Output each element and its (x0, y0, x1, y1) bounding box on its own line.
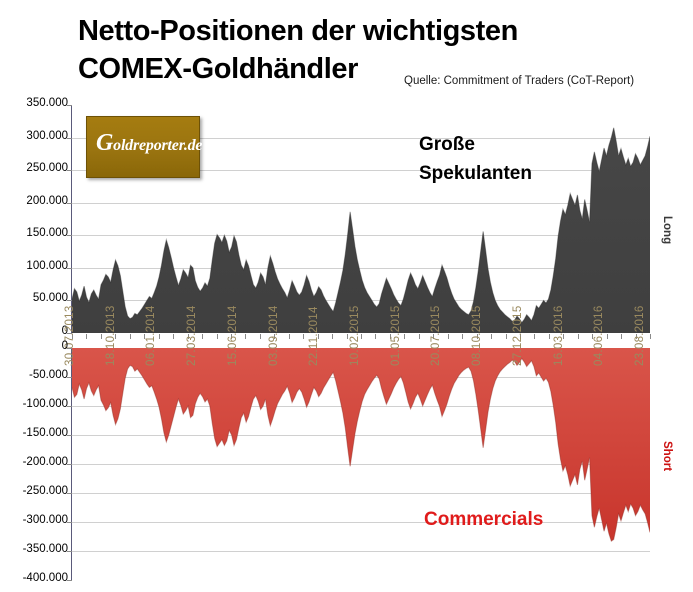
annotation-commercials: Commercials (424, 509, 543, 531)
x-axis-tick-mark (462, 334, 463, 339)
y-axis-tick-mark (67, 551, 72, 552)
y-axis-tick-label: 0 (0, 325, 68, 337)
x-axis-tick-mark (650, 334, 651, 339)
x-axis-date-label: 27.03.2014 (186, 305, 198, 366)
x-axis-tick-mark (506, 334, 507, 339)
y-axis-tick-label: -150.000 (0, 427, 68, 439)
x-axis-date-label: 22.11.2014 (308, 306, 320, 366)
x-axis-date-label: 23.08.2016 (634, 305, 646, 366)
x-axis-tick-mark (217, 334, 218, 339)
x-axis-tick-mark (491, 334, 492, 339)
y-axis-tick-label: -100.000 (0, 398, 68, 410)
x-axis-date-label: 20.07.2015 (430, 305, 442, 366)
x-axis-tick-mark (347, 334, 348, 339)
y-axis-tick-mark (67, 235, 72, 236)
x-axis-tick-mark (303, 334, 304, 339)
x-axis-date-label: 04.06.2016 (593, 305, 605, 366)
y-axis-tick-mark (67, 138, 72, 139)
x-axis-date-label: 16.03.2016 (553, 305, 565, 366)
x-axis-tick-mark (332, 334, 333, 339)
logo-rest: oldreporter.de (113, 137, 202, 154)
logo-text: Goldreporter.de (96, 137, 202, 155)
y-axis-tick-label: -350.000 (0, 543, 68, 555)
y-axis-tick-label: 100.000 (0, 260, 68, 272)
x-axis-tick-mark (159, 334, 160, 339)
y-axis-tick-mark (67, 435, 72, 436)
y-axis-tick-mark (67, 105, 72, 106)
annotation-grosse-spekulanten: Große Spekulanten (419, 130, 532, 188)
y-axis-tick-mark (67, 300, 72, 301)
y-axis-tick-label: -250.000 (0, 485, 68, 497)
y-axis-tick-label: 350.000 (0, 97, 68, 109)
annotation-line-2: Spekulanten (419, 159, 532, 188)
y-axis-tick-mark (67, 170, 72, 171)
source-subtitle: Quelle: Commitment of Traders (CoT-Repor… (404, 75, 634, 87)
x-axis-tick-mark (534, 334, 535, 339)
y-axis-tick-label: -400.000 (0, 572, 68, 584)
chart-page: Netto-Positionen der wichtigsten COMEX-G… (0, 0, 693, 592)
x-axis-tick-mark (202, 334, 203, 339)
y-axis-tick-mark (67, 464, 72, 465)
x-axis-date-labels: 30.07.201318.10.201306.01.201427.03.2014… (72, 348, 650, 468)
x-axis-tick-mark (419, 334, 420, 339)
side-label-short: Short (661, 441, 673, 471)
x-axis-tick-mark (289, 334, 290, 339)
x-axis-tick-mark (86, 334, 87, 339)
x-axis-tick-mark (361, 334, 362, 339)
x-axis-date-label: 18.10.2013 (105, 305, 117, 366)
x-axis-tick-mark (448, 334, 449, 339)
x-axis-date-label: 01.05.2015 (390, 305, 402, 366)
y-axis-tick-mark (67, 406, 72, 407)
x-axis-tick-mark (173, 334, 174, 339)
x-axis-tick-mark (260, 334, 261, 339)
y-axis-tick-mark (67, 348, 72, 349)
y-axis-tick-label: -300.000 (0, 514, 68, 526)
x-axis-date-label: 30.07.2013 (64, 305, 76, 366)
y-axis-tick-label: 50.000 (0, 292, 68, 304)
x-axis-date-label: 10.02.2015 (349, 305, 361, 366)
x-axis-date-label: 06.01.2014 (145, 305, 157, 366)
x-axis-tick-mark (621, 334, 622, 339)
x-axis-tick-mark (549, 334, 550, 339)
y-axis-tick-label: -50.000 (0, 369, 68, 381)
x-axis-date-label: 27.12.2015 (512, 305, 524, 366)
side-label-long: Long (661, 216, 673, 244)
y-axis-tick-mark (67, 580, 72, 581)
x-axis-date-label: 03.09.2014 (268, 305, 280, 366)
chart-header: Netto-Positionen der wichtigsten COMEX-G… (0, 0, 693, 96)
x-axis-date-label: 15.06.2014 (227, 305, 239, 366)
y-axis-tick-mark (67, 522, 72, 523)
x-axis-tick-mark (404, 334, 405, 339)
panel-commercials: 30.07.201318.10.201306.01.201427.03.2014… (0, 344, 693, 592)
x-axis-tick-mark (375, 334, 376, 339)
annotation-line-1: Große (419, 130, 532, 159)
x-axis-tick-mark (130, 334, 131, 339)
x-axis-tick-mark (245, 334, 246, 339)
y-axis-tick-mark (67, 493, 72, 494)
goldreporter-logo[interactable]: Goldreporter.de (86, 116, 200, 178)
y-axis-tick-label: 250.000 (0, 162, 68, 174)
y-axis-tick-label: -200.000 (0, 456, 68, 468)
x-axis-tick-mark (101, 334, 102, 339)
title-line-1: Netto-Positionen der wichtigsten (78, 12, 638, 50)
x-axis-tick-mark (607, 334, 608, 339)
y-axis-tick-label: 150.000 (0, 227, 68, 239)
y-axis-tick-label: 200.000 (0, 195, 68, 207)
x-axis-date-label: 08.10.2015 (471, 305, 483, 366)
y-axis-tick-label: 0 (0, 340, 68, 352)
logo-initial: G (96, 130, 113, 156)
y-axis-tick-label: 300.000 (0, 130, 68, 142)
x-axis-tick-mark (578, 334, 579, 339)
y-axis-tick-mark (67, 377, 72, 378)
y-axis-tick-mark (67, 268, 72, 269)
y-axis-tick-mark (67, 203, 72, 204)
